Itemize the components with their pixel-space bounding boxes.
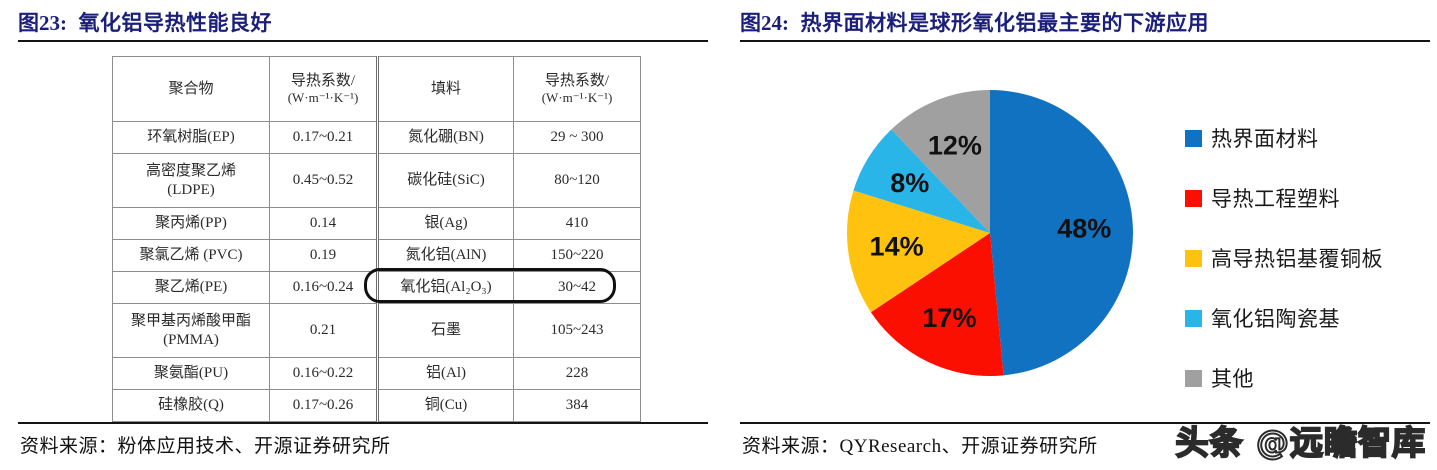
cell-polymer: 环氧树脂(EP) [113,122,270,154]
legend-swatch-icon-2 [1185,250,1202,267]
table-row: 高密度聚乙烯(LDPE) 0.45~0.52 碳化硅(SiC) 80~120 [113,154,641,208]
cell-filler-k: 410 [514,208,641,240]
legend-item-1[interactable]: 导热工程塑料 [1185,168,1430,228]
figure-23-bottom-rule [18,422,708,424]
cell-filler: 氧化铝(Al₂O₃) [378,272,514,304]
figure-23-panel: 图23: 氧化铝导热性能良好 聚合物 导热系数/ (W·m⁻¹·K⁻¹) [18,0,708,470]
cell-polymer-k: 0.17~0.21 [270,122,378,154]
legend-item-2[interactable]: 高导热铝基覆铜板 [1185,228,1430,288]
pie-legend: 热界面材料 导热工程塑料 高导热铝基覆铜板 氧化铝陶瓷基 其他 [1185,108,1430,408]
cell-filler-k: 80~120 [514,154,641,208]
cell-polymer-k: 0.21 [270,304,378,358]
figure-page: 图23: 氧化铝导热性能良好 聚合物 导热系数/ (W·m⁻¹·K⁻¹) [0,0,1437,470]
cell-polymer: 聚甲基丙烯酸甲酯(PMMA) [113,304,270,358]
cell-filler-k: 228 [514,358,641,390]
legend-label-3: 氧化铝陶瓷基 [1211,303,1340,333]
table-header-row: 聚合物 导热系数/ (W·m⁻¹·K⁻¹) 填料 导热系数/ (W·m⁻¹·K⁻… [113,57,641,122]
header-filler-label: 填料 [431,81,461,97]
cell-polymer: 聚丙烯(PP) [113,208,270,240]
cell-polymer: 聚乙烯(PE) [113,272,270,304]
cell-polymer: 硅橡胶(Q) [113,390,270,422]
figure-24-title-text: 热界面材料是球形氧化铝最主要的下游应用 [801,11,1210,35]
cell-filler: 铝(Al) [378,358,514,390]
cell-polymer-k: 0.17~0.26 [270,390,378,422]
cell-polymer-k: 0.14 [270,208,378,240]
header-polymer-k-line2: (W·m⁻¹·K⁻¹) [272,90,374,106]
cell-filler: 铜(Cu) [378,390,514,422]
cell-filler: 氮化硼(BN) [378,122,514,154]
cell-polymer: 聚氨酯(PU) [113,358,270,390]
legend-label-4: 其他 [1211,363,1254,393]
thermal-conductivity-table: 聚合物 导热系数/ (W·m⁻¹·K⁻¹) 填料 导热系数/ (W·m⁻¹·K⁻… [112,56,641,422]
thermal-conductivity-table-wrap: 聚合物 导热系数/ (W·m⁻¹·K⁻¹) 填料 导热系数/ (W·m⁻¹·K⁻… [112,56,618,422]
figure-23-title: 图23: 氧化铝导热性能良好 [18,0,708,35]
cell-polymer: 高密度聚乙烯(LDPE) [113,154,270,208]
cell-filler-k: 29 ~ 300 [514,122,641,154]
figure-23-title-text: 氧化铝导热性能良好 [79,11,273,35]
table-row: 聚氯乙烯 (PVC) 0.19 氮化铝(AlN) 150~220 [113,240,641,272]
legend-label-0: 热界面材料 [1211,123,1319,153]
pie-data-label-4: 12% [928,130,982,160]
figure-24-source: 资料来源：QYResearch、开源证券研究所 [742,431,1098,458]
header-polymer: 聚合物 [113,57,270,122]
header-filler: 填料 [378,57,514,122]
figure-24-title: 图24: 热界面材料是球形氧化铝最主要的下游应用 [740,0,1430,35]
pie-data-label-1: 17% [922,303,976,333]
cell-filler: 碳化硅(SiC) [378,154,514,208]
legend-swatch-icon-4 [1185,370,1202,387]
legend-swatch-icon-0 [1185,130,1202,147]
figure-24-panel: 图24: 热界面材料是球形氧化铝最主要的下游应用 48%17%14%8%12% … [740,0,1430,470]
header-filler-k-line1: 导热系数/ [516,72,638,91]
figure-23-source: 资料来源：粉体应用技术、开源证券研究所 [20,431,391,458]
pie-data-label-0: 48% [1057,214,1111,244]
watermark: 头条 @远瞻智库 [1176,416,1427,464]
cell-filler: 石墨 [378,304,514,358]
cell-polymer-k: 0.19 [270,240,378,272]
table-row: 环氧树脂(EP) 0.17~0.21 氮化硼(BN) 29 ~ 300 [113,122,641,154]
cell-filler-k: 105~243 [514,304,641,358]
legend-item-4[interactable]: 其他 [1185,348,1430,408]
legend-label-2: 高导热铝基覆铜板 [1211,243,1383,273]
table-row: 聚氨酯(PU) 0.16~0.22 铝(Al) 228 [113,358,641,390]
figure-23-top-rule [18,40,708,42]
table-row: 硅橡胶(Q) 0.17~0.26 铜(Cu) 384 [113,390,641,422]
cell-filler-k: 150~220 [514,240,641,272]
cell-filler-k: 30~42 [514,272,641,304]
legend-item-0[interactable]: 热界面材料 [1185,108,1430,168]
pie-data-label-2: 14% [870,231,924,261]
cell-filler: 银(Ag) [378,208,514,240]
table-row-highlighted: 聚乙烯(PE) 0.16~0.24 氧化铝(Al₂O₃) 30~42 [113,272,641,304]
cell-polymer-k: 0.16~0.22 [270,358,378,390]
cell-polymer: 聚氯乙烯 (PVC) [113,240,270,272]
header-filler-k: 导热系数/ (W·m⁻¹·K⁻¹) [514,57,641,122]
header-polymer-label: 聚合物 [168,81,213,97]
figure-23-number: 图23: [18,11,67,35]
cell-filler-k: 384 [514,390,641,422]
header-polymer-k: 导热系数/ (W·m⁻¹·K⁻¹) [270,57,378,122]
pie-svg: 48%17%14%8%12% [845,88,1135,378]
downstream-application-pie-chart: 48%17%14%8%12% 热界面材料 导热工程塑料 高导热铝基覆铜板 氧 [740,50,1430,410]
legend-item-3[interactable]: 氧化铝陶瓷基 [1185,288,1430,348]
figure-24-number: 图24: [740,11,789,35]
legend-label-1: 导热工程塑料 [1211,183,1340,213]
legend-swatch-icon-1 [1185,190,1202,207]
legend-swatch-icon-3 [1185,310,1202,327]
cell-polymer-k: 0.45~0.52 [270,154,378,208]
pie-data-label-3: 8% [890,168,929,198]
header-filler-k-line2: (W·m⁻¹·K⁻¹) [516,90,638,106]
header-polymer-k-line1: 导热系数/ [272,72,374,91]
figure-24-top-rule [740,40,1430,42]
cell-filler: 氮化铝(AlN) [378,240,514,272]
table-row: 聚甲基丙烯酸甲酯(PMMA) 0.21 石墨 105~243 [113,304,641,358]
cell-polymer-k: 0.16~0.24 [270,272,378,304]
table-row: 聚丙烯(PP) 0.14 银(Ag) 410 [113,208,641,240]
